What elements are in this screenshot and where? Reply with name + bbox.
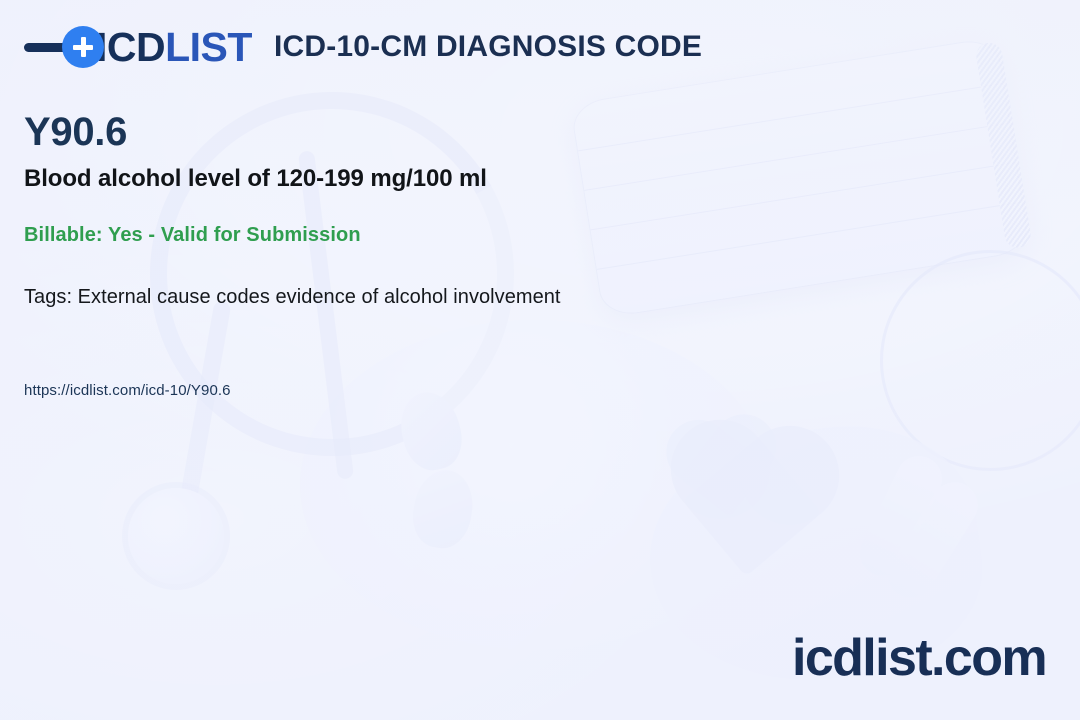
diagnosis-code: Y90.6 xyxy=(24,112,127,152)
mask-strap-shape xyxy=(859,229,1080,491)
finger-shape-one xyxy=(852,448,949,583)
paper-heart-small-icon xyxy=(679,427,770,518)
logo-word-primary: ICD xyxy=(96,24,165,70)
icdlist-logo[interactable]: ICDLIST xyxy=(24,26,252,68)
diagnosis-description: Blood alcohol level of 120-199 mg/100 ml xyxy=(24,165,487,193)
logo-word-secondary: LIST xyxy=(165,24,252,70)
dish-shape xyxy=(300,320,770,650)
plus-circle-icon xyxy=(62,26,104,68)
stethoscope-chestpiece-icon xyxy=(128,488,224,584)
finger-shape-two xyxy=(880,474,987,607)
logo-wordmark: ICDLIST xyxy=(96,27,252,68)
stethoscope-tube-left xyxy=(177,300,231,515)
stethoscope-eartip-two xyxy=(408,466,479,553)
stethoscope-loop-icon xyxy=(107,49,557,499)
billable-status-badge: Billable: Yes - Valid for Submission xyxy=(24,224,361,247)
stethoscope-eartip-one xyxy=(393,386,468,476)
stethoscope-tube-right xyxy=(298,150,354,479)
header-bar: ICDLIST ICD-10-CM DIAGNOSIS CODE xyxy=(24,26,702,68)
background-watermark-photo xyxy=(0,0,1080,720)
paper-heart-large-icon xyxy=(682,437,821,576)
page-title: ICD-10-CM DIAGNOSIS CODE xyxy=(274,30,702,64)
icd-code-card: ICDLIST ICD-10-CM DIAGNOSIS CODE Y90.6 B… xyxy=(0,0,1080,720)
surgical-mask-icon xyxy=(571,38,1029,318)
footer-brand-wordmark: icdlist.com xyxy=(792,632,1046,684)
source-url[interactable]: https://icdlist.com/icd-10/Y90.6 xyxy=(24,382,231,399)
tags-line: Tags: External cause codes evidence of a… xyxy=(24,286,561,309)
background-wash xyxy=(0,0,1080,720)
background-fade-overlay xyxy=(0,0,1080,720)
